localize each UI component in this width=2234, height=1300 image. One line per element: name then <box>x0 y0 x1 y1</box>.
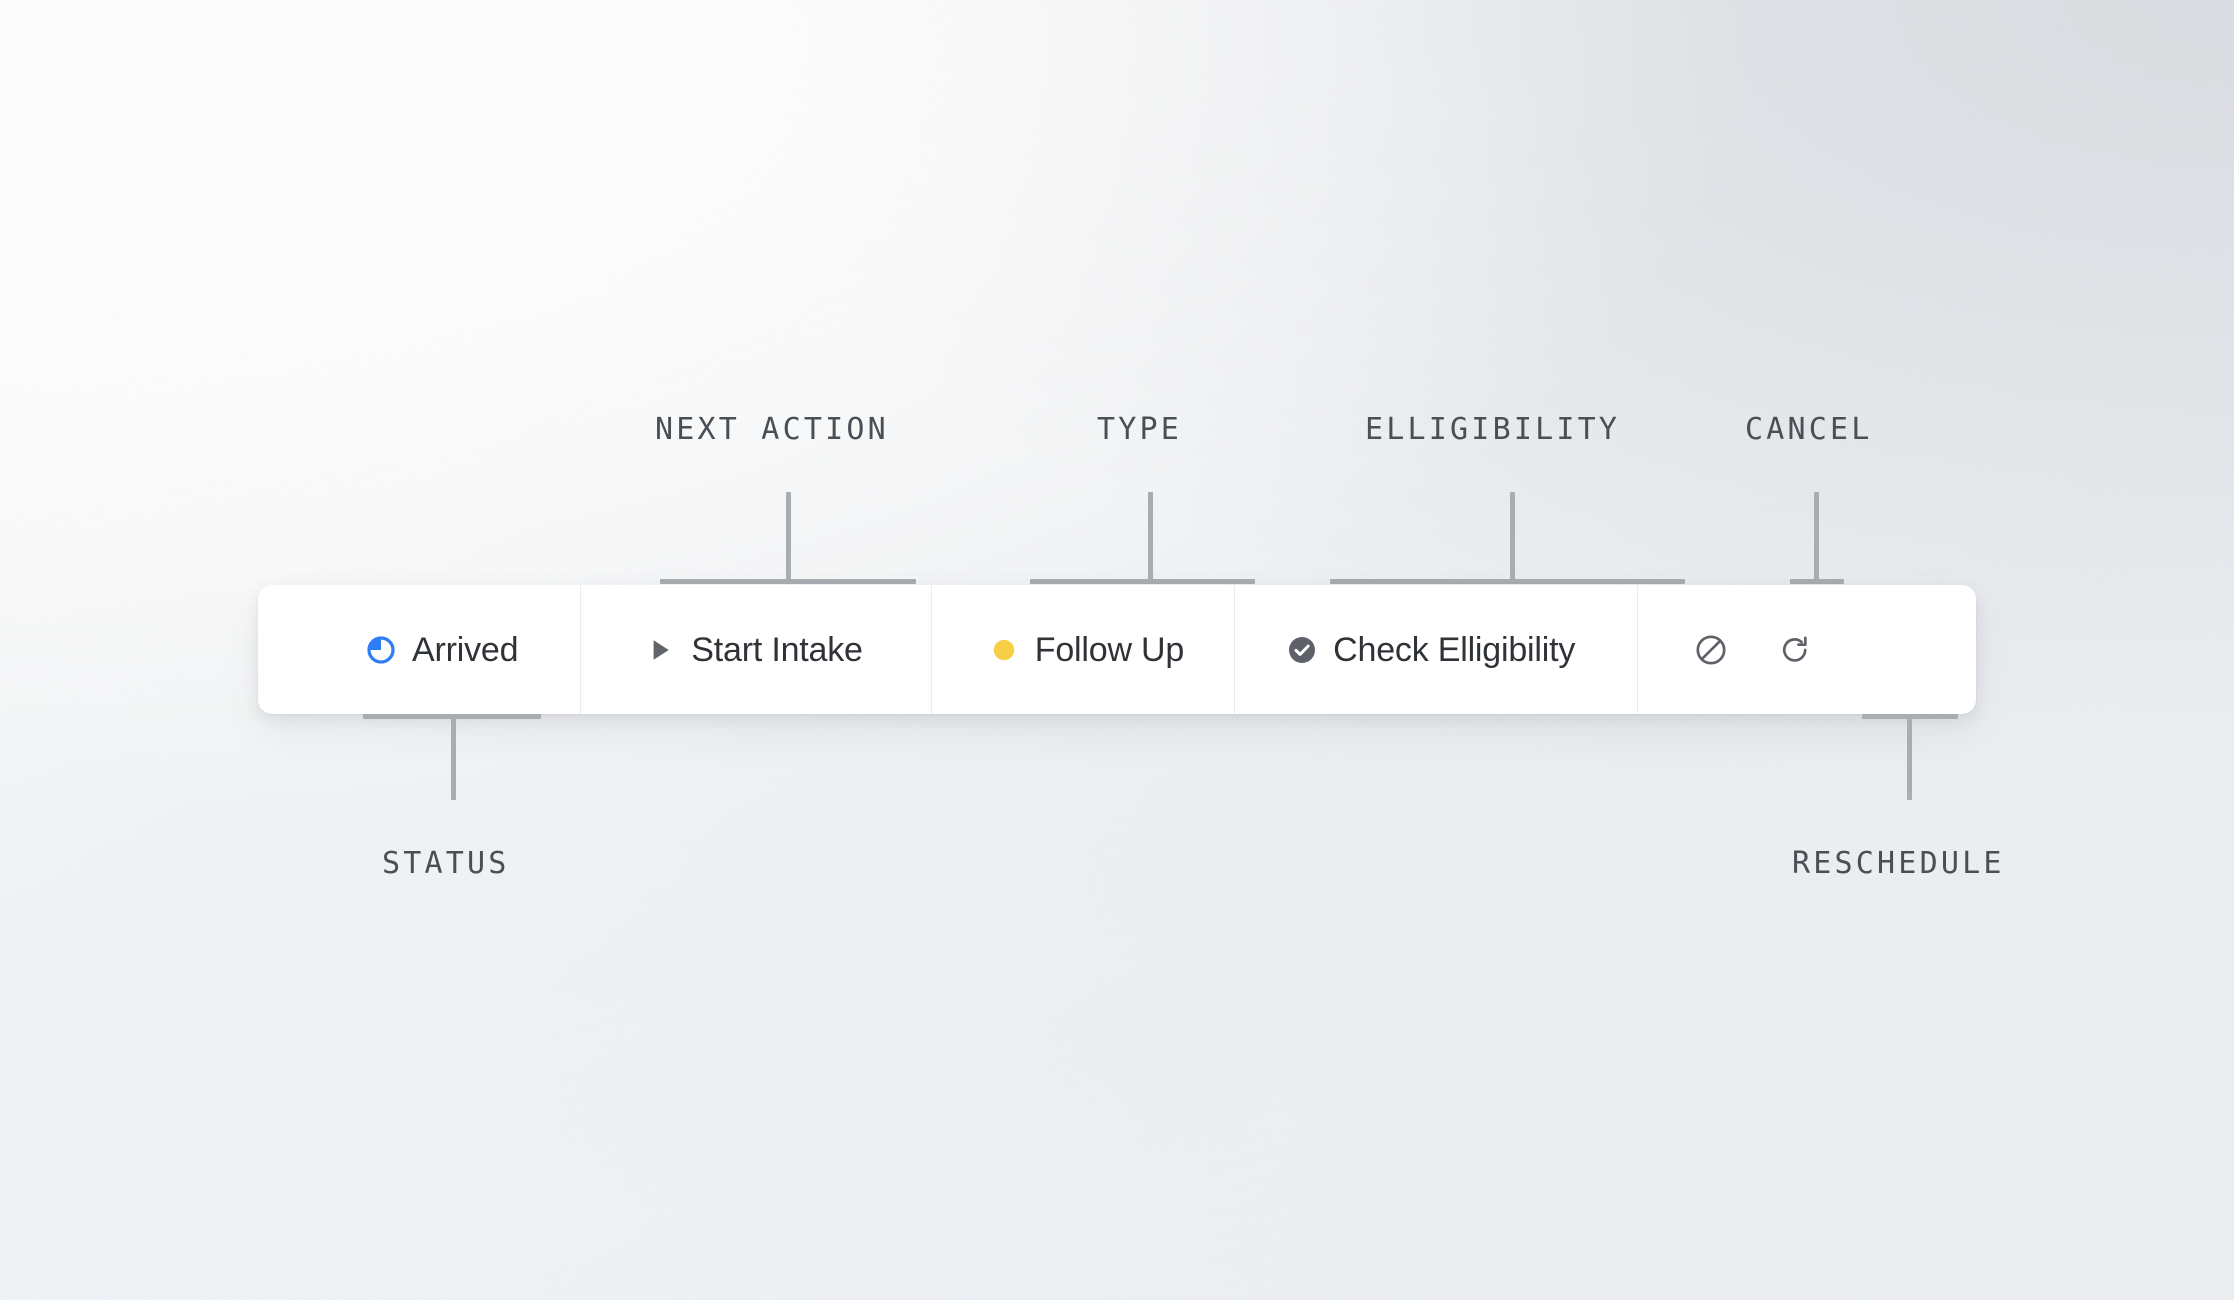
annotation-label-next-action: NEXT ACTION <box>655 415 889 445</box>
status-cell[interactable]: Arrived <box>364 585 518 714</box>
status-value: Arrived <box>412 633 518 667</box>
leader-line-next-action <box>660 492 916 584</box>
group-actions <box>1637 585 1868 714</box>
leader-line-cancel <box>1790 492 1844 584</box>
prohibited-icon <box>1694 633 1728 667</box>
elligibility-cell[interactable]: Check Elligibility <box>1285 585 1575 714</box>
elligibility-value: Check Elligibility <box>1333 633 1575 667</box>
redo-arrow-icon <box>1778 633 1812 667</box>
screenshot-stage: NEXT ACTION TYPE ELLIGIBILITY CANCEL <box>0 0 2234 1300</box>
play-triangle-icon <box>643 633 677 667</box>
leader-line-status <box>363 714 541 802</box>
next-action-value: Start Intake <box>691 633 862 667</box>
leader-line-type <box>1030 492 1255 584</box>
check-circle-icon <box>1285 633 1319 667</box>
group-type: Follow Up <box>931 585 1234 714</box>
group-elligibility: Check Elligibility <box>1234 585 1637 714</box>
next-action-cell[interactable]: Start Intake <box>643 585 862 714</box>
cancel-button[interactable] <box>1684 623 1738 677</box>
dot-icon <box>987 633 1021 667</box>
action-card: Arrived Start Intake <box>258 585 1976 714</box>
annotation-label-status: STATUS <box>382 849 510 879</box>
annotation-label-type: TYPE <box>1097 415 1182 445</box>
leader-line-reschedule <box>1862 714 1958 802</box>
annotation-label-reschedule: RESCHEDULE <box>1792 849 2005 879</box>
group-status: Arrived <box>258 585 580 714</box>
pie-quarter-icon <box>364 633 398 667</box>
leader-line-elligibility <box>1330 492 1685 584</box>
annotation-label-elligibility: ELLIGIBILITY <box>1365 415 1620 445</box>
type-value: Follow Up <box>1035 633 1184 667</box>
reschedule-button[interactable] <box>1768 623 1822 677</box>
type-cell[interactable]: Follow Up <box>987 585 1184 714</box>
annotation-label-cancel: CANCEL <box>1745 415 1873 445</box>
group-next-action: Start Intake <box>580 585 930 714</box>
